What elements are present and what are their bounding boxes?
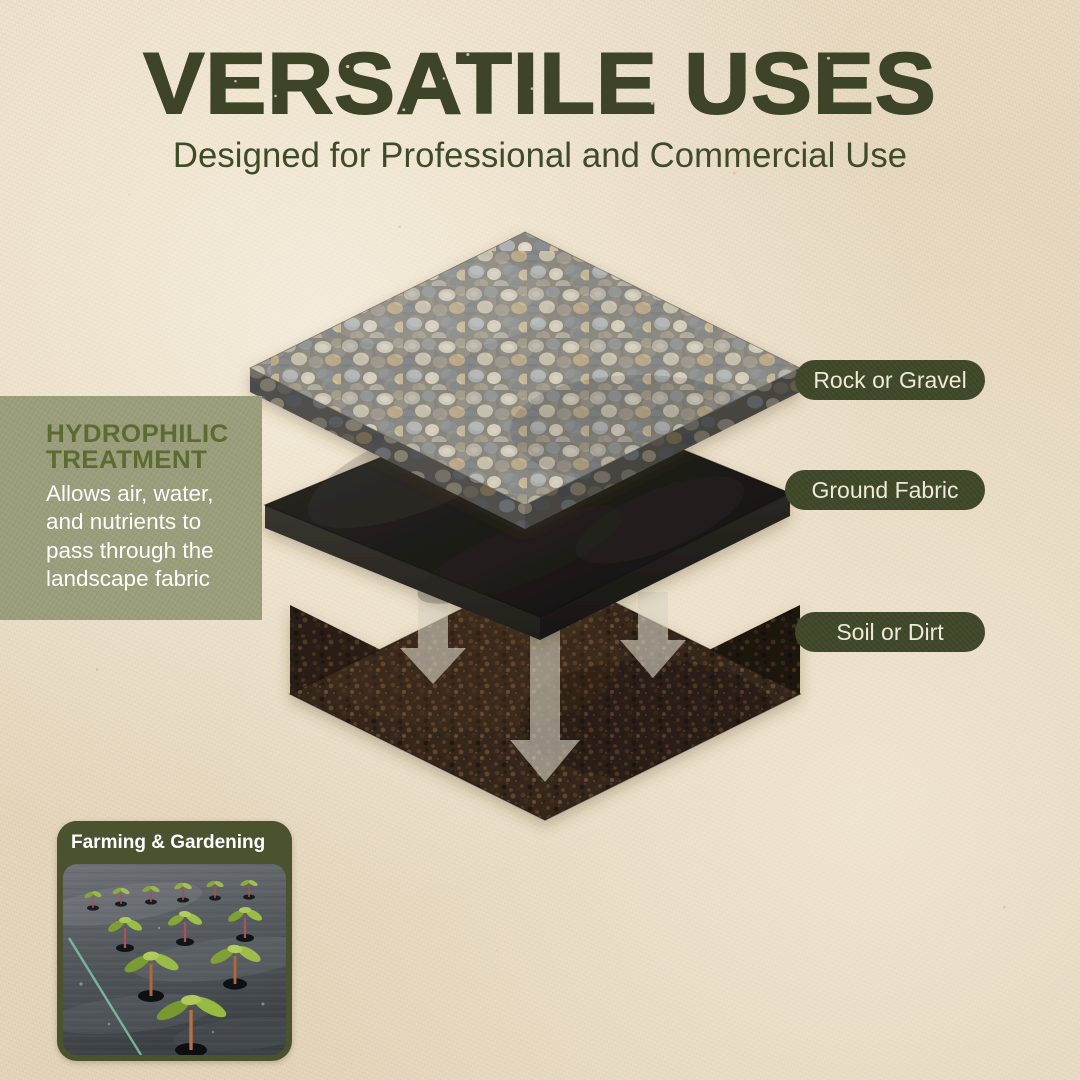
layer-label-soil-dirt-text: Soil or Dirt — [836, 619, 943, 646]
use-case-card-farming-gardening[interactable]: Farming & Gardening — [57, 821, 292, 1061]
info-panel-heading-line1: HYDROPHILIC — [46, 422, 262, 448]
info-panel-heading: HYDROPHILIC TREATMENT — [46, 422, 262, 473]
layer-label-rock-gravel-text: Rock or Gravel — [813, 367, 966, 394]
hydrophilic-treatment-panel: HYDROPHILIC TREATMENT Allows air, water,… — [0, 396, 262, 620]
infographic-canvas: VERSATILE USES Designed for Professional… — [0, 0, 1080, 1080]
layer-label-ground-fabric[interactable]: Ground Fabric — [785, 470, 985, 510]
layer-label-soil-dirt[interactable]: Soil or Dirt — [795, 612, 985, 652]
info-panel-body: Allows air, water, and nutrients to pass… — [46, 480, 246, 593]
layer-label-ground-fabric-text: Ground Fabric — [811, 477, 958, 504]
use-case-card-photo — [63, 864, 286, 1055]
layer-label-rock-gravel[interactable]: Rock or Gravel — [795, 360, 985, 400]
info-panel-heading-line2: TREATMENT — [46, 448, 262, 474]
use-case-card-caption: Farming & Gardening — [57, 821, 292, 864]
